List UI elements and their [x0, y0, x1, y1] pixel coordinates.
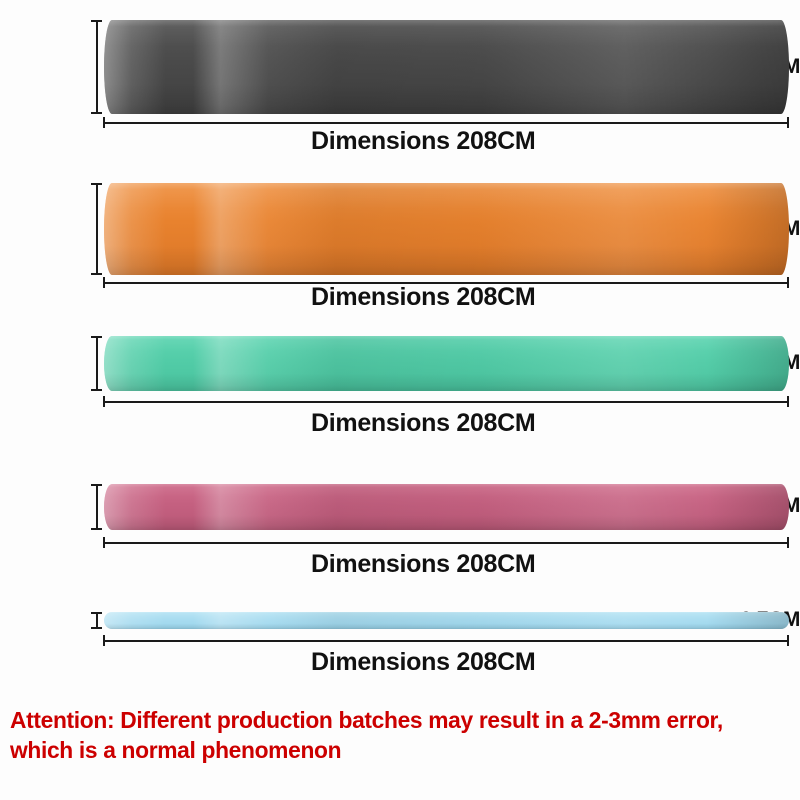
dimension-cap-bottom [91, 112, 102, 114]
resistance-band-pink [104, 484, 789, 530]
resistance-band-dark-gray [104, 20, 789, 114]
band-edge-shading [104, 612, 789, 629]
length-label-dark-gray: Dimensions 208CM [311, 127, 535, 156]
dimension-stem [96, 484, 98, 530]
vertical-dimension-line-light-blue [91, 612, 102, 629]
length-label-green: Dimensions 208CM [311, 409, 535, 438]
band-edge-shading [104, 336, 789, 391]
dimension-cap-bottom [91, 528, 102, 530]
dimension-stem [96, 20, 98, 114]
length-label-light-blue: Dimensions 208CM [311, 648, 535, 677]
dimension-cap-right [787, 117, 789, 128]
dimension-cap-right [787, 396, 789, 407]
length-label-pink: Dimensions 208CM [311, 550, 535, 579]
vertical-dimension-line-orange [91, 183, 102, 275]
vertical-dimension-line-pink [91, 484, 102, 530]
resistance-band-green [104, 336, 789, 391]
dimension-rule [103, 640, 789, 642]
dimension-cap-bottom [91, 273, 102, 275]
attention-notice-line-1: Attention: Different production batches … [10, 705, 776, 735]
band-edge-shading [104, 484, 789, 530]
dimension-cap-bottom [91, 627, 102, 629]
dimension-cap-right [787, 537, 789, 548]
length-dimension-line-light-blue [103, 635, 789, 646]
resistance-band-orange [104, 183, 789, 275]
vertical-dimension-line-green [91, 336, 102, 391]
dimension-rule [103, 542, 789, 544]
attention-notice-line-2: which is a normal phenomenon [10, 735, 776, 765]
dimension-rule [103, 401, 789, 403]
resistance-band-light-blue [104, 612, 789, 629]
dimension-cap-right [787, 277, 789, 288]
dimension-stem [96, 183, 98, 275]
attention-notice: Attention: Different production batches … [10, 705, 776, 765]
dimension-cap-bottom [91, 389, 102, 391]
product-dimension-infographic: 10.9CM Dimensions 208CM 8.7CM [0, 0, 800, 800]
dimension-cap-right [787, 635, 789, 646]
length-dimension-line-green [103, 396, 789, 407]
band-edge-shading [104, 20, 789, 114]
band-edge-shading [104, 183, 789, 275]
dimension-rule [103, 122, 789, 124]
length-label-orange: Dimensions 208CM [311, 283, 535, 312]
dimension-stem [96, 336, 98, 391]
length-dimension-line-pink [103, 537, 789, 548]
vertical-dimension-line-dark-gray [91, 20, 102, 114]
